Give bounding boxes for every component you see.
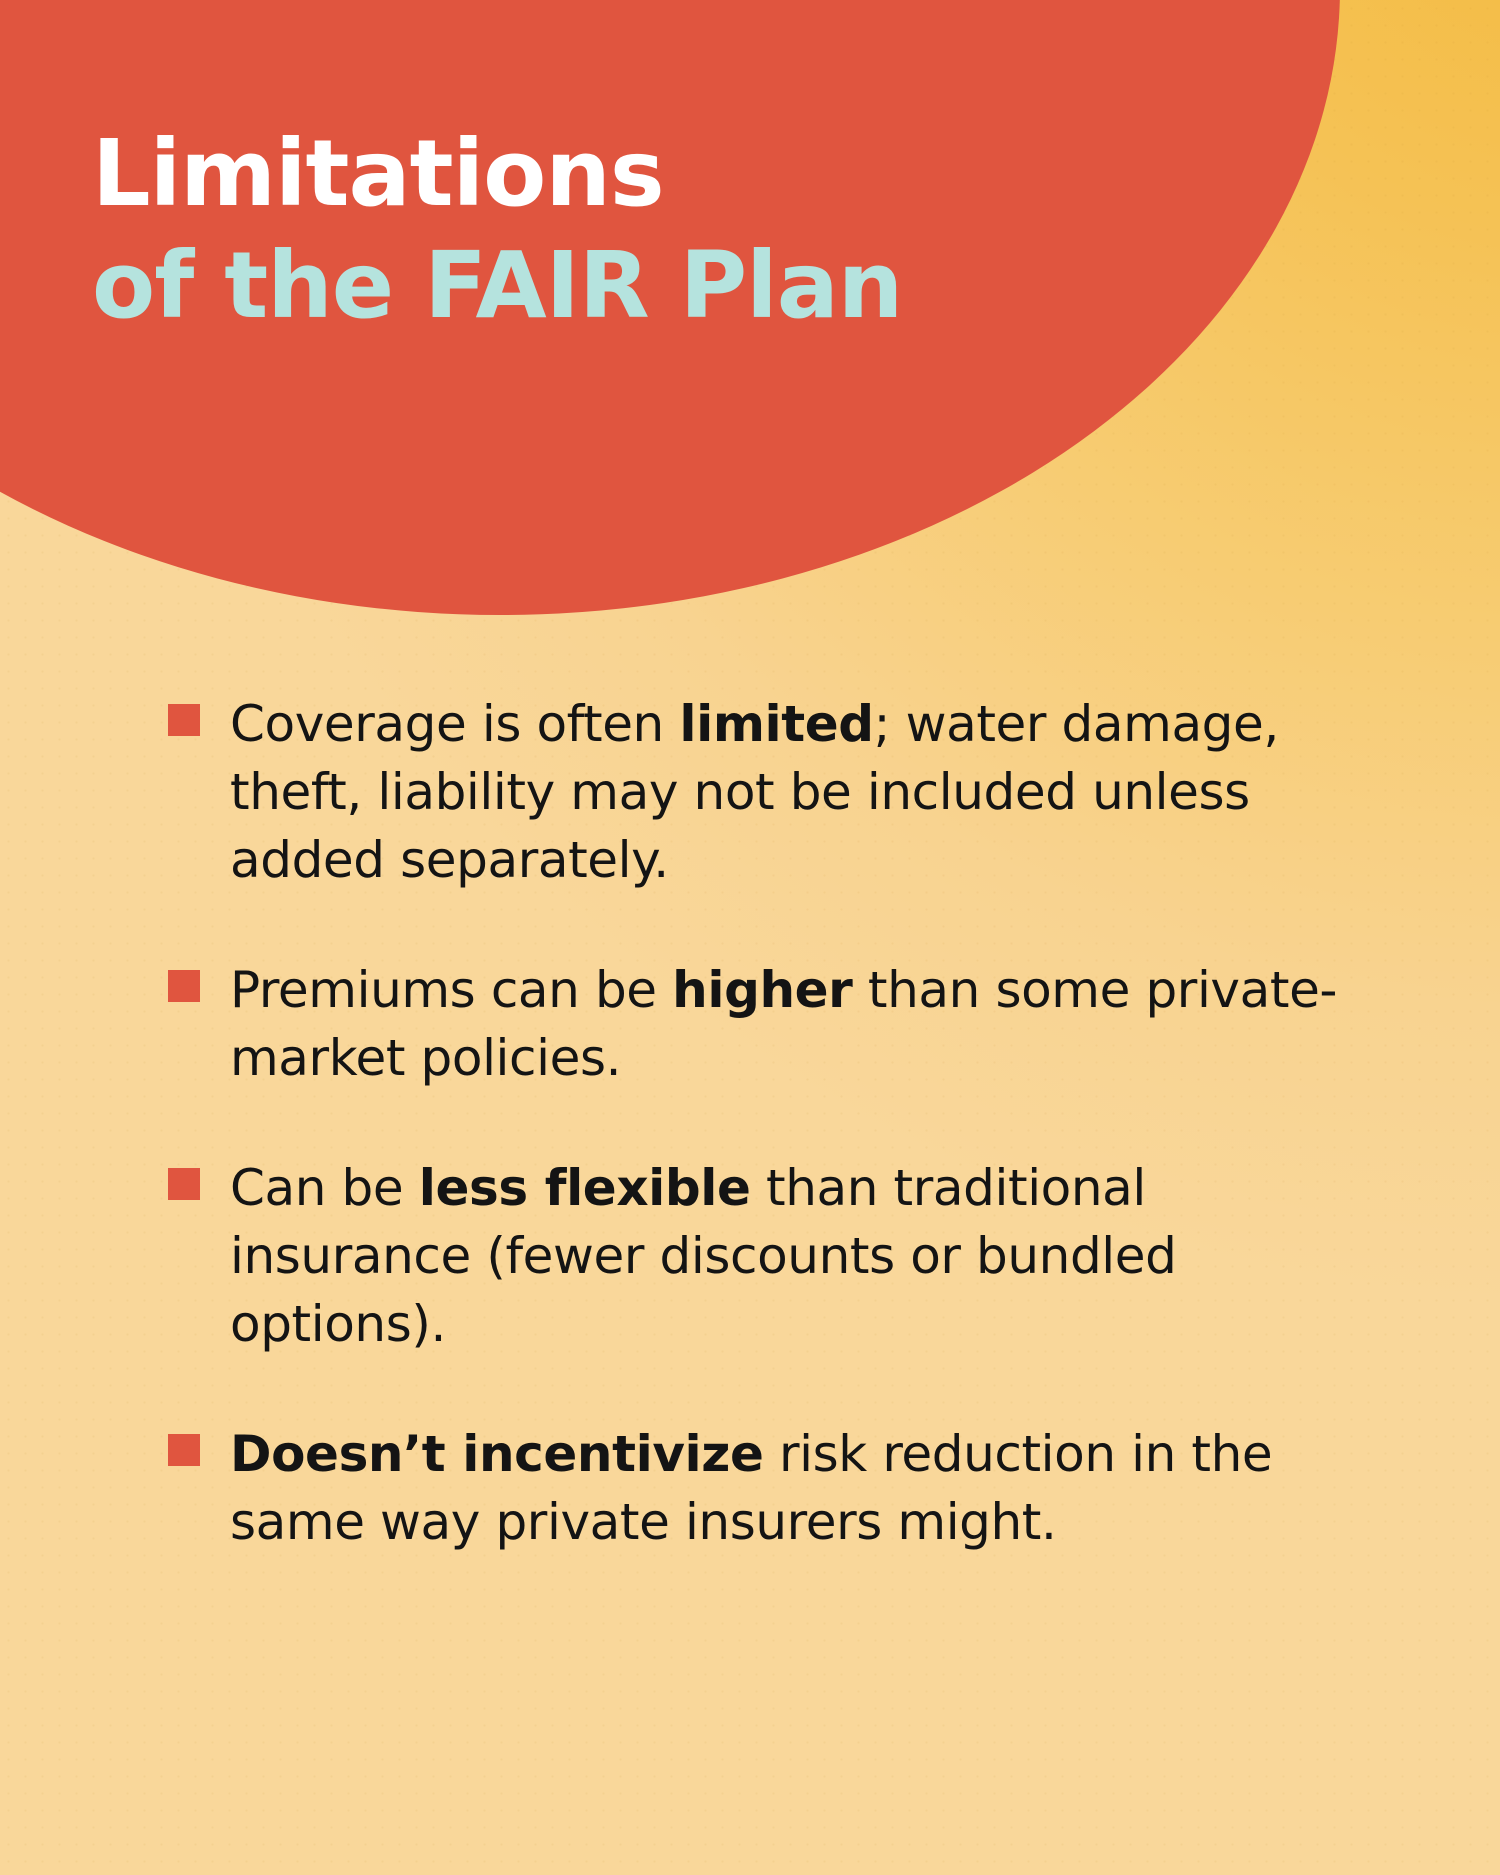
emphasis-text: limited bbox=[679, 695, 873, 753]
limitations-list: Coverage is often limited; water damage,… bbox=[168, 690, 1368, 1556]
body-text: Premiums can be bbox=[230, 961, 672, 1019]
emphasis-text: Doesn’t incentivize bbox=[230, 1425, 764, 1483]
title-line-secondary: of the FAIR Plan bbox=[92, 230, 1242, 342]
square-bullet-icon bbox=[168, 1168, 200, 1200]
infographic-poster: Limitations of the FAIR Plan Coverage is… bbox=[0, 0, 1500, 1875]
list-item-text: Can be less flexible than traditional in… bbox=[230, 1154, 1368, 1358]
list-item: Coverage is often limited; water damage,… bbox=[168, 690, 1368, 894]
list-item: Can be less flexible than traditional in… bbox=[168, 1154, 1368, 1358]
page-title: Limitations of the FAIR Plan bbox=[92, 118, 1242, 342]
square-bullet-icon bbox=[168, 1434, 200, 1466]
list-item-text: Coverage is often limited; water damage,… bbox=[230, 690, 1368, 894]
emphasis-text: higher bbox=[672, 961, 852, 1019]
title-line-primary: Limitations bbox=[92, 118, 1242, 230]
square-bullet-icon bbox=[168, 704, 200, 736]
body-text: Coverage is often bbox=[230, 695, 679, 753]
body-text: Can be bbox=[230, 1159, 419, 1217]
list-item: Doesn’t incentivize risk reduction in th… bbox=[168, 1420, 1368, 1556]
list-item-text: Doesn’t incentivize risk reduction in th… bbox=[230, 1420, 1368, 1556]
list-item-text: Premiums can be higher than some private… bbox=[230, 956, 1368, 1092]
square-bullet-icon bbox=[168, 970, 200, 1002]
emphasis-text: less flexible bbox=[419, 1159, 751, 1217]
list-item: Premiums can be higher than some private… bbox=[168, 956, 1368, 1092]
